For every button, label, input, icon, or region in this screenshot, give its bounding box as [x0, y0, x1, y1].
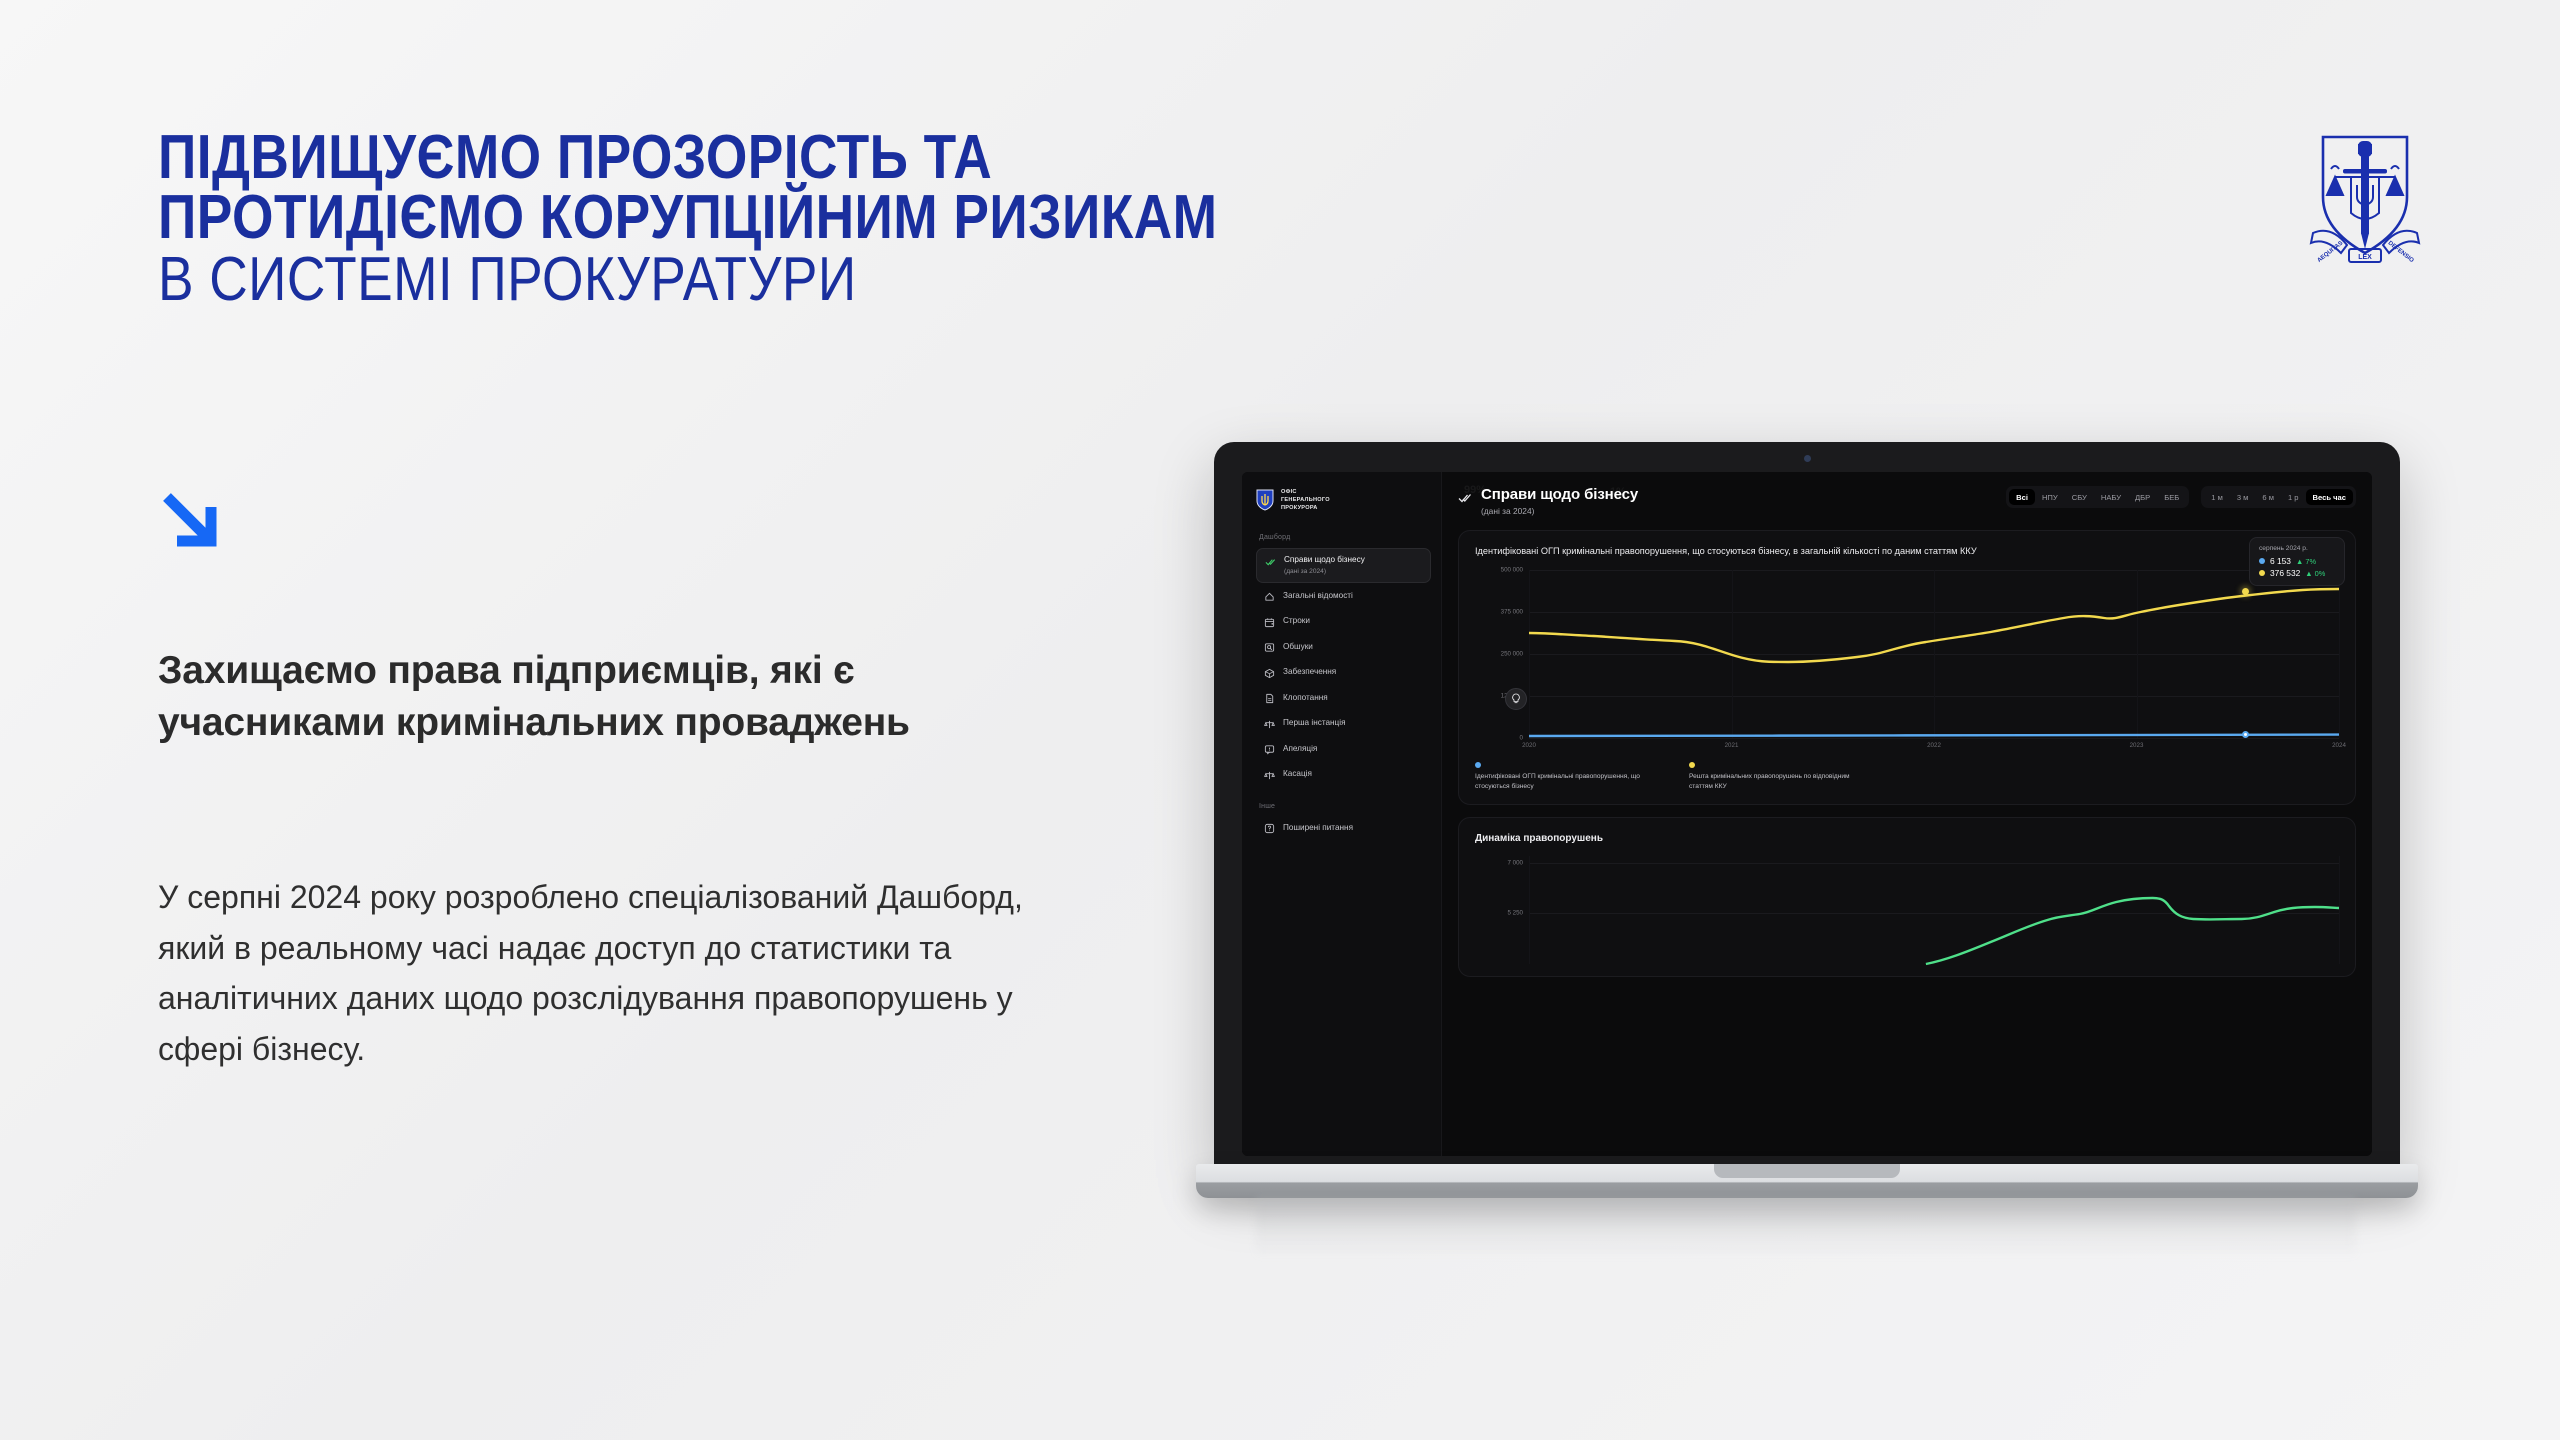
prosecutor-emblem-icon: LEX AEQUITAS DEFENSIO [2305, 125, 2425, 270]
sidebar-item-terms[interactable]: Строки [1256, 610, 1431, 634]
tooltip-date: серпень 2024 р. [2259, 545, 2335, 552]
sidebar-item-faq[interactable]: Поширені питання [1256, 817, 1431, 841]
chart-card-offence-dynamics: Динаміка правопорушень 7 000 5 250 [1458, 817, 2356, 977]
period-option-1m[interactable]: 1 м [2204, 489, 2230, 505]
double-check-icon [1458, 490, 1473, 505]
legend-dot-yellow [2259, 570, 2265, 576]
headline-line-2: ПРОТИДІЄМО КОРУПЦІЙНИМ РИЗИКАМ [158, 188, 1362, 248]
agency-option-sbu[interactable]: СБУ [2065, 489, 2094, 505]
dashboard-topbar: 99% 1% Справи щодо бізнесу (дані за 2024… [1458, 486, 2356, 516]
x-tick-2024: 2024 [2332, 742, 2346, 749]
headline-line-1: ПІДВИЩУЄМО ПРОЗОРІСТЬ ТА [158, 128, 1362, 188]
y-tick-0: 0 [1520, 735, 1523, 742]
chart-series-svg-2 [1529, 856, 2339, 964]
legend-dot-blue [1475, 762, 1481, 768]
period-filter[interactable]: 1 м 3 м 6 м 1 р Весь час [2201, 486, 2356, 508]
laptop-lid: ОФІС ГЕНЕРАЛЬНОГО ПРОКУРОРА Дашборд Спра… [1214, 442, 2400, 1172]
page-subtitle: (дані за 2024) [1481, 506, 1638, 516]
sidebar-item-label: Справи щодо бізнесу (дані за 2024) [1284, 555, 1365, 575]
gridline [1529, 738, 2339, 739]
brand-name: ОФІС ГЕНЕРАЛЬНОГО ПРОКУРОРА [1281, 488, 1330, 512]
sidebar-item-label: Перша інстанція [1283, 718, 1346, 728]
chart-card-identified-offences: Ідентифіковані ОГП кримінальні правопору… [1458, 530, 2356, 805]
tooltip-delta-yellow: ▲ 0% [2305, 569, 2325, 578]
webcam-icon [1804, 455, 1811, 462]
headline-block: ПІДВИЩУЄМО ПРОЗОРІСТЬ ТА ПРОТИДІЄМО КОРУ… [158, 128, 1558, 310]
brand-logo: ОФІС ГЕНЕРАЛЬНОГО ПРОКУРОРА [1256, 488, 1431, 512]
sidebar-item-label: Загальні відомості [1283, 591, 1353, 601]
tooltip-value-blue: 6 153 [2270, 556, 2291, 566]
gridline-v [2339, 570, 2340, 738]
question-icon [1264, 823, 1275, 834]
sidebar-item-security[interactable]: Забезпечення [1256, 661, 1431, 685]
calendar-icon [1264, 617, 1275, 628]
agency-filter[interactable]: Всі НПУ СБУ НАБУ ДБР БЕБ [2006, 486, 2189, 508]
y-tick-5250: 5 250 [1508, 910, 1523, 917]
tooltip-row-blue: 6 153 ▲ 7% [2259, 556, 2335, 566]
chart-plot-area: 0 125 000 250 000 375 000 500 000 2020 2… [1475, 570, 2339, 738]
x-tick-2023: 2023 [2130, 742, 2144, 749]
agency-option-npu[interactable]: НПУ [2035, 489, 2065, 505]
dashboard-app: ОФІС ГЕНЕРАЛЬНОГО ПРОКУРОРА Дашборд Спра… [1242, 472, 2372, 1156]
legend-item-yellow: Решта кримінальних правопорушень по відп… [1689, 762, 1859, 792]
brand-emblem-icon [1256, 489, 1274, 511]
laptop-base [1196, 1164, 2418, 1198]
period-option-all-time[interactable]: Весь час [2306, 489, 2353, 505]
sidebar-item-appeal[interactable]: Апеляція [1256, 738, 1431, 762]
y-tick-500000: 500 000 [1501, 567, 1523, 574]
y-tick-250000: 250 000 [1501, 651, 1523, 658]
search-folder-icon [1264, 642, 1275, 653]
sidebar-group-label: Дашборд [1259, 534, 1431, 541]
gridline-v [2339, 856, 2340, 964]
chart-axes-2: 7 000 5 250 [1529, 856, 2339, 964]
series-line-yellow [1529, 589, 2339, 662]
legend-label-blue: Ідентифіковані ОГП кримінальні правопору… [1475, 772, 1645, 792]
laptop-screen: ОФІС ГЕНЕРАЛЬНОГО ПРОКУРОРА Дашборд Спра… [1242, 472, 2372, 1156]
series-line-green [1926, 898, 2339, 964]
sidebar-item-first-instance[interactable]: Перша інстанція [1256, 712, 1431, 736]
sidebar-item-cassation[interactable]: Касація [1256, 763, 1431, 787]
sidebar-item-label: Апеляція [1283, 744, 1317, 754]
period-option-1y[interactable]: 1 р [2281, 489, 2306, 505]
sidebar-item-label: Поширені питання [1283, 823, 1353, 833]
legend-label-yellow: Решта кримінальних правопорушень по відп… [1689, 772, 1859, 792]
dashboard-content: 99% 1% Справи щодо бізнесу (дані за 2024… [1442, 472, 2372, 1156]
tooltip-delta-blue: ▲ 7% [2296, 557, 2316, 566]
period-option-6m[interactable]: 6 м [2255, 489, 2281, 505]
scales-icon [1264, 770, 1275, 781]
page-title: Справи щодо бізнесу [1481, 486, 1638, 503]
chart-title: Ідентифіковані ОГП кримінальні правопору… [1475, 545, 2035, 558]
sidebar-item-motions[interactable]: Клопотання [1256, 687, 1431, 711]
sidebar-item-label: Обшуки [1283, 642, 1313, 652]
svg-text:LEX: LEX [2358, 254, 2372, 261]
sidebar-item-general-info[interactable]: Загальні відомості [1256, 585, 1431, 609]
tooltip-value-yellow: 376 532 [2270, 568, 2300, 578]
sidebar-item-label: Касація [1283, 769, 1312, 779]
x-tick-2020: 2020 [1522, 742, 1536, 749]
scales-icon [1264, 719, 1275, 730]
alert-icon [1264, 744, 1275, 755]
y-tick-7000: 7 000 [1508, 859, 1523, 866]
hint-button[interactable] [1505, 688, 1527, 710]
sidebar-item-label: Строки [1283, 616, 1310, 626]
legend-item-blue: Ідентифіковані ОГП кримінальні правопору… [1475, 762, 1645, 792]
chart-legend: Ідентифіковані ОГП кримінальні правопору… [1475, 762, 2339, 792]
x-tick-2021: 2021 [1725, 742, 1739, 749]
legend-dot-blue [2259, 558, 2265, 564]
chart-tooltip: серпень 2024 р. 6 153 ▲ 7% 376 532 ▲ 0% [2249, 537, 2345, 586]
spacer [1256, 789, 1431, 803]
sidebar: ОФІС ГЕНЕРАЛЬНОГО ПРОКУРОРА Дашборд Спра… [1242, 472, 1442, 1156]
home-icon [1264, 591, 1275, 602]
poster-canvas: ПІДВИЩУЄМО ПРОЗОРІСТЬ ТА ПРОТИДІЄМО КОРУ… [0, 0, 2560, 1440]
chart-axes: 0 125 000 250 000 375 000 500 000 2020 2… [1529, 570, 2339, 738]
agency-option-all[interactable]: Всі [2009, 489, 2035, 505]
agency-option-dbr[interactable]: ДБР [2128, 489, 2157, 505]
double-check-icon [1265, 556, 1276, 567]
period-option-3m[interactable]: 3 м [2230, 489, 2256, 505]
subheadline: Захищаємо права підприємців, які є учасн… [158, 645, 1058, 749]
tooltip-row-yellow: 376 532 ▲ 0% [2259, 568, 2335, 578]
sidebar-other-label: Інше [1259, 803, 1431, 810]
y-tick-375000: 375 000 [1501, 609, 1523, 616]
arrow-down-right-icon [155, 485, 229, 559]
sidebar-item-business-cases[interactable]: Справи щодо бізнесу (дані за 2024) [1256, 548, 1431, 582]
body-paragraph: У серпні 2024 року розроблено спеціалізо… [158, 872, 1038, 1074]
sidebar-item-sublabel: (дані за 2024) [1284, 568, 1365, 576]
x-tick-2022: 2022 [1927, 742, 1941, 749]
sidebar-item-label: Клопотання [1283, 693, 1328, 703]
filter-controls: Всі НПУ СБУ НАБУ ДБР БЕБ 1 м 3 м [2006, 486, 2356, 508]
agency-option-beb[interactable]: БЕБ [2157, 489, 2186, 505]
document-icon [1264, 693, 1275, 704]
headline-line-3: В СИСТЕМІ ПРОКУРАТУРИ [158, 250, 1362, 310]
laptop-mockup: ОФІС ГЕНЕРАЛЬНОГО ПРОКУРОРА Дашборд Спра… [1196, 442, 2418, 1232]
chart-plot-area-2: 7 000 5 250 [1475, 856, 2339, 964]
agency-option-nabu[interactable]: НАБУ [2094, 489, 2128, 505]
sidebar-item-searches[interactable]: Обшуки [1256, 636, 1431, 660]
box-icon [1264, 668, 1275, 679]
laptop-base-notch [1714, 1164, 1900, 1178]
chart-series-svg [1529, 570, 2339, 738]
chart-title-2: Динаміка правопорушень [1475, 832, 2035, 846]
series-line-blue [1529, 735, 2339, 736]
laptop-reflection [1256, 1198, 2356, 1258]
sidebar-item-label: Забезпечення [1283, 667, 1336, 677]
lightbulb-icon [1511, 693, 1521, 705]
page-title-group: 99% 1% Справи щодо бізнесу (дані за 2024… [1458, 486, 1638, 516]
legend-dot-yellow [1689, 762, 1695, 768]
page-title-texts: Справи щодо бізнесу (дані за 2024) [1481, 486, 1638, 516]
